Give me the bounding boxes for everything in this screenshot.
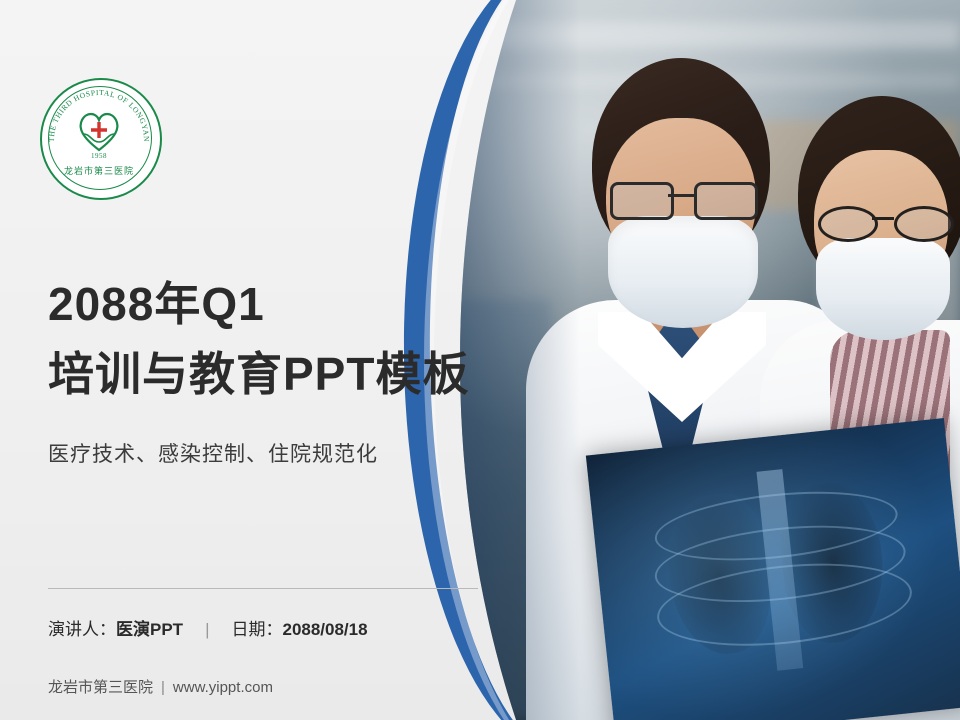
hospital-logo: THE THIRD HOSPITAL OF LONGYAN 1958 龙岩市第三… [40,78,162,200]
slide-title-line-2: 培训与教育PPT模板 [48,338,469,404]
chest-xray-film [586,418,960,720]
logo-year: 1958 [40,152,158,160]
xray-backlight-glow [586,418,960,720]
presenter-label: 演讲人： [48,620,116,639]
date-label: 日期： [231,620,282,639]
horizontal-divider [48,588,478,589]
doctor-left-glasses [610,182,756,216]
doctor-left-face-mask [608,216,758,328]
presentation-slide: THE THIRD HOSPITAL OF LONGYAN 1958 龙岩市第三… [0,0,960,720]
date-value: 2088/08/18 [282,620,367,639]
meta-separator: | [205,620,209,640]
slide-title-line-1: 2088年Q1 [48,268,265,334]
hero-photo-panel [430,0,960,720]
footer-organization: 龙岩市第三医院 [48,679,153,696]
slide-footer: 龙岩市第三医院|www.yippt.com [48,676,273,697]
slide-meta: 演讲人：医演PPT|日期：2088/08/18 [48,615,368,640]
slide-subtitle: 医疗技术、感染控制、住院规范化 [48,438,378,468]
doctor-right-face-mask [816,238,950,340]
photo-ceiling-light [430,22,960,48]
doctor-right-glasses [818,206,950,238]
logo-chinese-name: 龙岩市第三医院 [40,164,158,177]
hero-photo-image [430,0,960,720]
footer-website[interactable]: www.yippt.com [173,679,273,696]
presenter-value: 医演PPT [116,620,183,639]
heart-cross-icon [76,108,122,152]
footer-separator: | [161,679,165,696]
